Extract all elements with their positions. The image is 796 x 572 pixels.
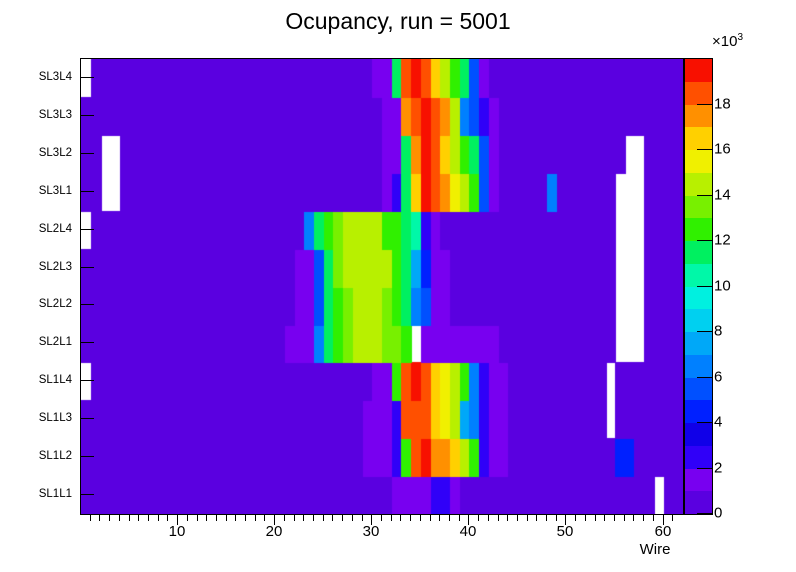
x-tick-mark-minor: [167, 514, 168, 521]
x-tick-mark-minor: [633, 514, 634, 521]
x-tick-mark-minor: [585, 514, 586, 521]
y-tick-label-sl2l1: SL2L1: [12, 336, 72, 348]
color-bar-band-2: [685, 446, 712, 469]
color-bar-tick-mark: [697, 331, 712, 332]
x-tick-mark-minor: [400, 514, 401, 521]
color-bar-band-4: [685, 400, 712, 423]
x-tick-label-50: 50: [543, 523, 587, 540]
x-tick-mark-minor: [478, 514, 479, 521]
y-tick-label-sl1l3: SL1L3: [12, 412, 72, 424]
x-tick-mark-minor: [206, 514, 207, 521]
color-bar-exponent-power: 3: [737, 32, 743, 43]
color-bar-band-8: [685, 309, 712, 332]
x-tick-mark-minor: [294, 514, 295, 521]
x-tick-mark-minor: [197, 514, 198, 521]
color-bar-band-3: [685, 423, 712, 446]
x-tick-mark-minor: [119, 514, 120, 521]
x-tick-mark-minor: [624, 514, 625, 521]
color-bar-band-14: [685, 173, 712, 196]
color-bar-band-6: [685, 355, 712, 378]
color-bar-band-10: [685, 264, 712, 287]
x-tick-mark-minor: [643, 514, 644, 521]
x-tick-mark-minor: [449, 514, 450, 521]
x-tick-mark-minor: [109, 514, 110, 521]
color-bar-exponent-mantissa: ×10: [712, 33, 737, 50]
x-tick-mark-minor: [226, 514, 227, 521]
x-tick-mark-minor: [507, 514, 508, 521]
color-bar-tick-mark: [697, 513, 712, 514]
x-tick-mark-minor: [235, 514, 236, 521]
x-tick-mark-minor: [672, 514, 673, 521]
color-bar-tick-label-14: 14: [714, 187, 731, 204]
x-tick-mark-minor: [90, 514, 91, 521]
heatmap-frame[interactable]: [80, 58, 684, 515]
y-tick-label-sl1l1: SL1L1: [12, 488, 72, 500]
heatmap-canvas[interactable]: [81, 59, 683, 514]
x-tick-mark-minor: [546, 514, 547, 521]
x-tick-mark-minor: [498, 514, 499, 521]
x-tick-mark-minor: [517, 514, 518, 521]
color-bar-tick-label-4: 4: [714, 414, 722, 431]
x-tick-mark-minor: [303, 514, 304, 521]
y-tick-label-sl3l2: SL3L2: [12, 147, 72, 159]
y-tick-label-sl2l2: SL2L2: [12, 298, 72, 310]
color-bar-tick-mark: [697, 422, 712, 423]
color-bar-tick-label-8: 8: [714, 323, 722, 340]
x-tick-mark-minor: [556, 514, 557, 521]
color-bar-band-13: [685, 196, 712, 219]
color-bar-tick-mark: [697, 286, 712, 287]
x-tick-mark-minor: [614, 514, 615, 521]
x-tick-label-30: 30: [349, 523, 393, 540]
color-bar-band-15: [685, 150, 712, 173]
x-tick-mark-minor: [362, 514, 363, 521]
x-tick-mark-minor: [352, 514, 353, 521]
x-tick-mark-minor: [420, 514, 421, 521]
x-axis-title: Wire: [620, 541, 690, 558]
x-tick-mark-minor: [430, 514, 431, 521]
x-tick-mark-minor: [255, 514, 256, 521]
color-bar-tick-label-16: 16: [714, 141, 731, 158]
y-tick-label-sl3l3: SL3L3: [12, 109, 72, 121]
x-tick-mark-minor: [129, 514, 130, 521]
x-tick-mark-minor: [439, 514, 440, 521]
color-bar-band-11: [685, 241, 712, 264]
x-tick-mark-minor: [148, 514, 149, 521]
x-tick-mark-minor: [264, 514, 265, 521]
y-tick-label-sl2l3: SL2L3: [12, 261, 72, 273]
x-tick-label-20: 20: [252, 523, 296, 540]
color-bar-tick-label-6: 6: [714, 369, 722, 386]
color-bar-tick-label-18: 18: [714, 96, 731, 113]
color-bar-band-16: [685, 127, 712, 150]
y-tick-label-sl1l2: SL1L2: [12, 450, 72, 462]
y-tick-label-sl3l1: SL3L1: [12, 185, 72, 197]
color-bar-band-5: [685, 378, 712, 401]
x-tick-mark-minor: [216, 514, 217, 521]
x-tick-label-60: 60: [641, 523, 685, 540]
x-tick-mark-minor: [158, 514, 159, 521]
color-bar-band-12: [685, 218, 712, 241]
color-bar-tick-mark: [697, 149, 712, 150]
color-bar-exponent: ×103: [712, 32, 743, 50]
x-tick-mark-minor: [575, 514, 576, 521]
x-tick-label-40: 40: [446, 523, 490, 540]
page-title: Ocupancy, run = 5001: [0, 8, 796, 35]
y-tick-label-sl3l4: SL3L4: [12, 71, 72, 83]
color-bar-band-9: [685, 287, 712, 310]
x-tick-mark-minor: [332, 514, 333, 521]
color-bar-band-19: [685, 59, 712, 82]
color-bar-band-7: [685, 332, 712, 355]
x-tick-mark-minor: [138, 514, 139, 521]
x-tick-mark-minor: [410, 514, 411, 521]
x-tick-mark-minor: [604, 514, 605, 521]
x-tick-label-10: 10: [155, 523, 199, 540]
y-tick-label-sl1l4: SL1L4: [12, 374, 72, 386]
x-tick-mark-minor: [653, 514, 654, 521]
color-bar-tick-mark: [697, 104, 712, 105]
color-bar-tick-mark: [697, 240, 712, 241]
color-bar-tick-label-12: 12: [714, 232, 731, 249]
x-tick-mark-minor: [313, 514, 314, 521]
color-bar-tick-mark: [697, 377, 712, 378]
color-bar-tick-mark: [697, 468, 712, 469]
color-bar-tick-label-0: 0: [714, 505, 722, 522]
y-tick-label-sl2l4: SL2L4: [12, 223, 72, 235]
x-tick-mark-minor: [536, 514, 537, 521]
x-tick-mark-minor: [381, 514, 382, 521]
x-tick-mark-minor: [391, 514, 392, 521]
color-bar-tick-label-10: 10: [714, 278, 731, 295]
x-tick-mark-minor: [459, 514, 460, 521]
color-bar-band-17: [685, 105, 712, 128]
x-tick-mark-minor: [284, 514, 285, 521]
color-bar-tick-label-2: 2: [714, 460, 722, 477]
x-tick-mark-minor: [595, 514, 596, 521]
color-bar-band-1: [685, 469, 712, 492]
color-bar-tick-mark: [697, 195, 712, 196]
x-tick-mark-minor: [342, 514, 343, 521]
x-tick-mark-minor: [99, 514, 100, 521]
x-tick-mark-minor: [187, 514, 188, 521]
x-tick-mark-minor: [527, 514, 528, 521]
x-tick-mark-minor: [488, 514, 489, 521]
x-tick-mark-minor: [323, 514, 324, 521]
root-canvas: Ocupancy, run = 5001 SL1L1SL1L2SL1L3SL1L…: [0, 0, 796, 572]
color-bar-band-18: [685, 82, 712, 105]
color-bar-band-0: [685, 491, 712, 514]
x-tick-mark-minor: [245, 514, 246, 521]
